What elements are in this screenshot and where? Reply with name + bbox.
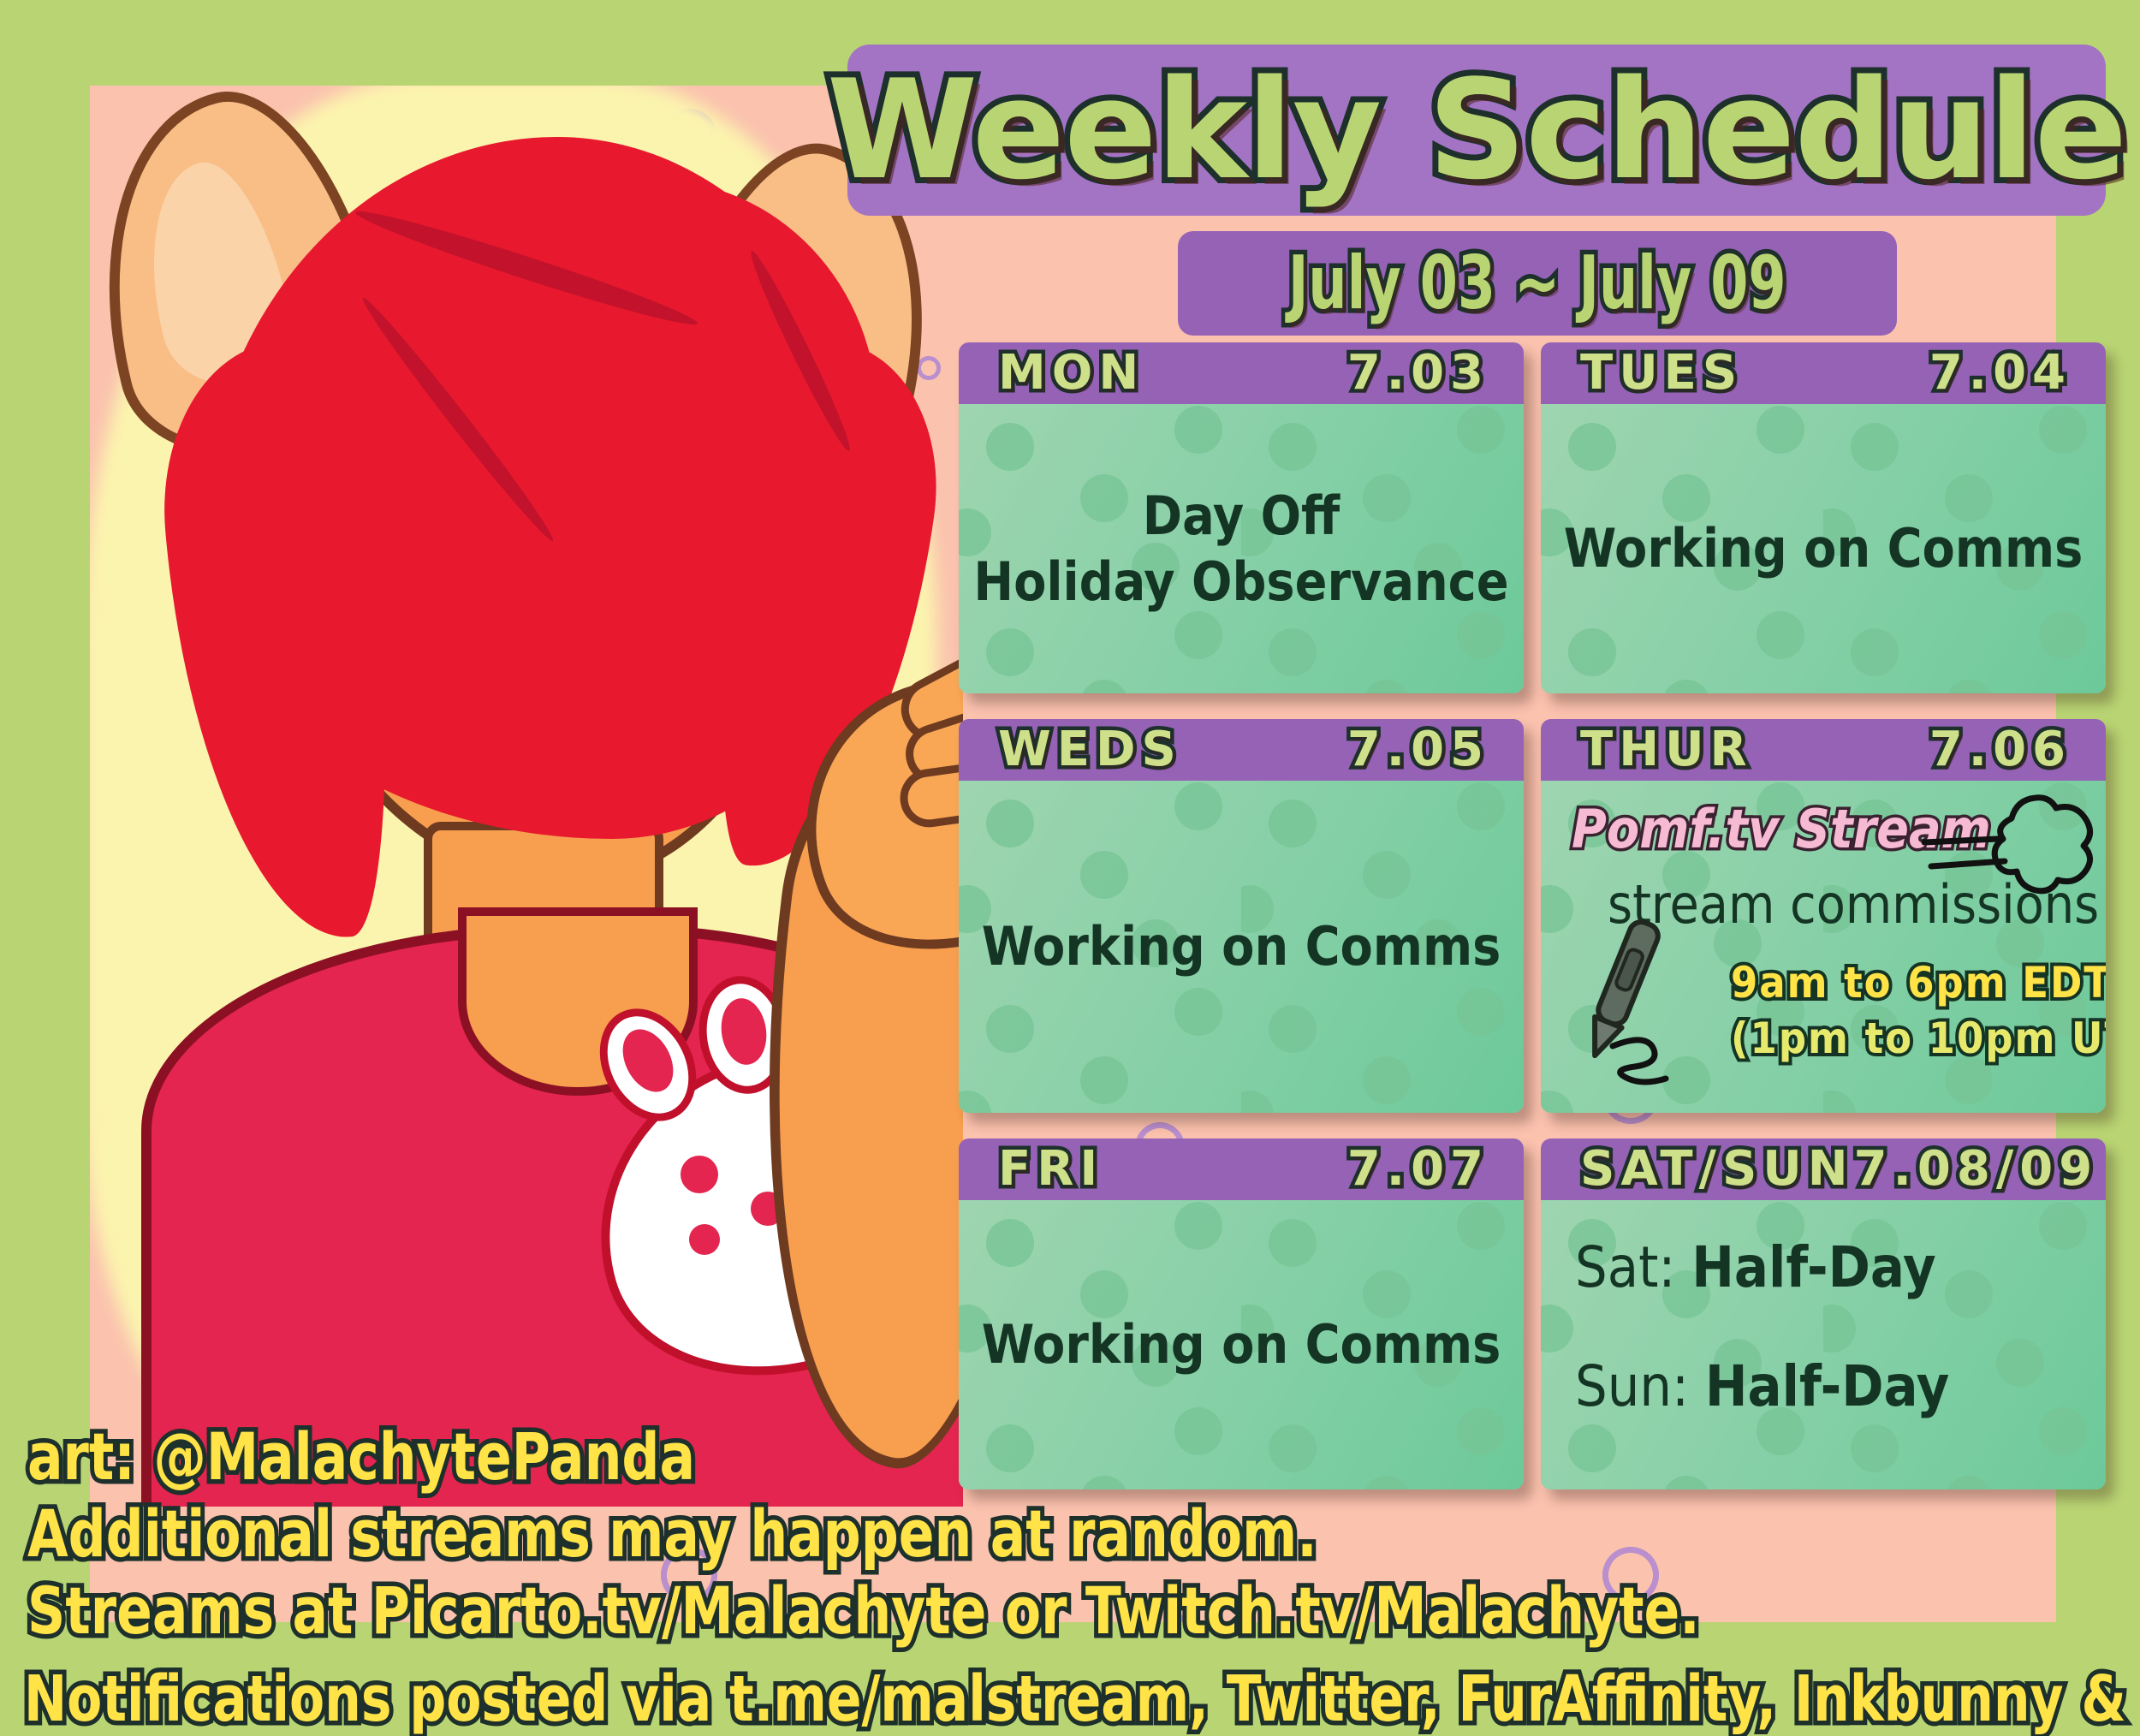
day-card-header-satsun: SAT/SUN 7.08/09: [1541, 1139, 2106, 1200]
footer-note-streams: Streams at Picarto.tv/Malachyte or Twitc…: [27, 1577, 1700, 1646]
day-of-week-label: MON: [998, 349, 1144, 397]
day-card-body-tues: Working on Comms: [1541, 404, 2106, 693]
footer-note-random: Additional streams may happen at random.: [27, 1500, 1317, 1569]
day-date-label: 7.06: [1929, 726, 2072, 774]
weekend-row-sun: Sun: Half-Day: [1575, 1353, 1949, 1419]
weekend-value-sun: Half-Day: [1705, 1353, 1949, 1419]
day-card-thur[interactable]: THUR 7.06 Pomf.tv Stream stream commissi…: [1541, 719, 2106, 1113]
day-of-week-label: WEDS: [998, 726, 1182, 774]
day-card-weds[interactable]: WEDS 7.05 Working on Comms: [959, 719, 1524, 1113]
artist-credit: art: @MalachytePanda: [27, 1423, 695, 1492]
day-date-label: 7.07: [1347, 1145, 1489, 1193]
stream-times: 9am to 6pm EDT (1pm to 10pm UTC): [1731, 955, 2106, 1067]
weekend-label-sat: Sat:: [1575, 1234, 1691, 1300]
day-card-body-thur: Pomf.tv Stream stream commissions 9am to…: [1541, 781, 2106, 1113]
weekend-row-sat: Sat: Half-Day: [1575, 1234, 1936, 1300]
day-of-week-label: SAT/SUN: [1580, 1145, 1854, 1193]
day-date-label: 7.04: [1929, 349, 2072, 397]
weekend-label-sun: Sun:: [1575, 1353, 1705, 1419]
stylus-pen-icon: [1553, 918, 1707, 1089]
day-date-label: 7.08/09: [1854, 1145, 2099, 1193]
day-date-label: 7.03: [1347, 349, 1489, 397]
day-card-body-weds: Working on Comms: [959, 781, 1524, 1113]
day-card-header-weds: WEDS 7.05: [959, 719, 1524, 781]
pom-pom-doodle-icon: [1919, 789, 2099, 918]
day-card-fri[interactable]: FRI 7.07 Working on Comms: [959, 1139, 1524, 1489]
date-range-bar: July 03 ~ July 09: [1178, 231, 1897, 336]
day-card-header-mon: MON 7.03: [959, 342, 1524, 404]
day-of-week-label: THUR: [1580, 726, 1753, 774]
day-entry-line: Working on Comms: [982, 913, 1501, 980]
day-card-satsun[interactable]: SAT/SUN 7.08/09 Sat: Half-Day Sun: Half-…: [1541, 1139, 2106, 1489]
day-date-label: 7.05: [1347, 726, 1489, 774]
stream-time-secondary: (1pm to 10pm UTC): [1731, 1011, 2106, 1067]
schedule-poster: Weekly Schedule July 03 ~ July 09 MON 7.…: [0, 0, 2140, 1712]
page-title: Weekly Schedule: [827, 62, 2126, 199]
day-card-header-tues: TUES 7.04: [1541, 342, 2106, 404]
day-card-header-thur: THUR 7.06: [1541, 719, 2106, 781]
date-range-label: July 03 ~ July 09: [1288, 247, 1786, 320]
day-card-mon[interactable]: MON 7.03 Day Off Holiday Observance: [959, 342, 1524, 693]
day-of-week-label: FRI: [998, 1145, 1103, 1193]
day-card-tues[interactable]: TUES 7.04 Working on Comms: [1541, 342, 2106, 693]
day-entry-line: Holiday Observance: [973, 549, 1508, 615]
stream-time-primary: 9am to 6pm EDT: [1731, 955, 2106, 1011]
day-card-body-fri: Working on Comms: [959, 1200, 1524, 1489]
day-entry-line: Working on Comms: [982, 1311, 1501, 1378]
day-entry-line: Working on Comms: [1564, 515, 2084, 582]
day-card-header-fri: FRI 7.07: [959, 1139, 1524, 1200]
day-card-body-mon: Day Off Holiday Observance: [959, 404, 1524, 693]
page-title-bar: Weekly Schedule: [847, 45, 2106, 216]
day-of-week-label: TUES: [1580, 349, 1743, 397]
day-entry-line: Day Off: [1143, 483, 1340, 550]
weekend-value-sat: Half-Day: [1691, 1234, 1935, 1300]
character-artwork: [90, 86, 963, 1507]
schedule-grid: MON 7.03 Day Off Holiday Observance TUES…: [959, 342, 2072, 1489]
day-card-body-satsun: Sat: Half-Day Sun: Half-Day: [1541, 1200, 2106, 1489]
footer-note-notifications: Notifications posted via t.me/malstream,…: [24, 1666, 2140, 1733]
